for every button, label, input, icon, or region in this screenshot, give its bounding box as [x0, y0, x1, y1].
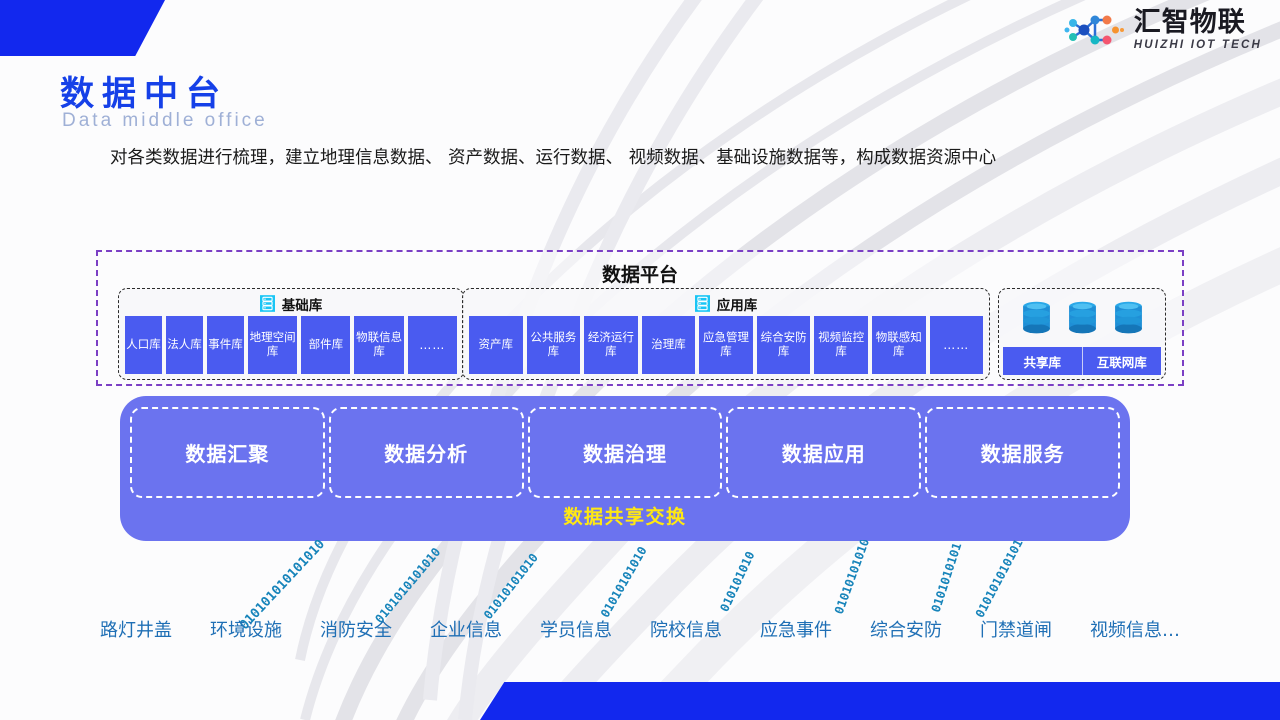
app-chip-economic-operation[interactable]: 经济运行库 — [584, 316, 638, 374]
binary-stream: 0101010101010 — [973, 540, 1029, 620]
capabilities-card-row: 数据汇聚 数据分析 数据治理 数据应用 数据服务 — [130, 407, 1120, 498]
base-library-box: 基础库 人口库 法人库 事件库 地理空间库 部件库 物联信息库 …… — [118, 288, 464, 380]
page-subtitle: Data middle office — [62, 110, 268, 132]
binary-stream: 010101010 — [717, 549, 757, 614]
tag-integrated-security[interactable]: 综合安防 — [870, 616, 942, 642]
binary-stream: 0101010101010 — [372, 545, 443, 626]
app-chip-public-service[interactable]: 公共服务库 — [527, 316, 581, 374]
base-chip-population[interactable]: 人口库 — [125, 316, 162, 374]
database-cylinder-row — [999, 289, 1165, 347]
database-cylinder-icon — [1113, 301, 1144, 335]
slide-root: 汇智物联 HUIZHI IOT TECH 数据中台 Data middle of… — [0, 0, 1280, 720]
bottom-tag-row: 路灯井盖 环境设施 消防安全 企业信息 学员信息 院校信息 应急事件 综合安防 … — [100, 616, 1180, 642]
base-chip-more[interactable]: …… — [408, 316, 457, 374]
app-chip-video-surveillance[interactable]: 视频监控库 — [814, 316, 868, 374]
corner-accent-bottom-right — [480, 682, 1280, 720]
page-title: 数据中台 — [60, 66, 228, 115]
binary-stream: 01010101010 — [598, 544, 650, 620]
data-platform-title: 数据平台 — [98, 260, 1182, 287]
database-stack-icon — [695, 295, 710, 312]
application-library-box: 应用库 资产库 公共服务库 经济运行库 治理库 应急管理库 综合安防库 视频监控… — [462, 288, 990, 380]
capability-card-data-application[interactable]: 数据应用 — [726, 407, 921, 498]
data-platform-panel: 数据平台 基础库 人口库 法人库 事件库 地理空间库 — [96, 250, 1184, 386]
base-chip-legal-person[interactable]: 法人库 — [166, 316, 203, 374]
database-stack-icon — [260, 295, 275, 312]
capability-card-data-governance[interactable]: 数据治理 — [528, 407, 723, 498]
tag-school-info[interactable]: 院校信息 — [650, 616, 722, 642]
tag-video-info[interactable]: 视频信息… — [1090, 616, 1180, 642]
binary-stream: 01010101010 — [832, 540, 872, 616]
app-chip-governance[interactable]: 治理库 — [642, 316, 696, 374]
database-cylinder-icon — [1021, 301, 1052, 335]
tag-environment-facility[interactable]: 环境设施 — [210, 616, 282, 642]
application-library-header: 应用库 — [463, 294, 989, 313]
capabilities-panel: 数据汇聚 数据分析 数据治理 数据应用 数据服务 数据共享交换 — [120, 396, 1130, 541]
capability-card-data-analysis[interactable]: 数据分析 — [329, 407, 524, 498]
shared-library-box: 共享库 互联网库 — [998, 288, 1166, 380]
base-chip-geospatial[interactable]: 地理空间库 — [248, 316, 297, 374]
base-library-chip-row: 人口库 法人库 事件库 地理空间库 部件库 物联信息库 …… — [125, 316, 457, 374]
tag-access-barrier[interactable]: 门禁道闸 — [980, 616, 1052, 642]
tab-shared-library[interactable]: 共享库 — [1003, 347, 1082, 375]
app-chip-asset[interactable]: 资产库 — [469, 316, 523, 374]
intro-paragraph: 对各类数据进行梳理，建立地理信息数据、 资产数据、运行数据、 视频数据、基础设施… — [110, 137, 1180, 180]
tag-emergency-event[interactable]: 应急事件 — [760, 616, 832, 642]
capabilities-footer-label: 数据共享交换 — [120, 502, 1130, 529]
tag-streetlight-manhole[interactable]: 路灯井盖 — [100, 616, 172, 642]
base-chip-component[interactable]: 部件库 — [301, 316, 350, 374]
app-chip-more[interactable]: …… — [930, 316, 984, 374]
logo-text-cn: 汇智物联 — [1134, 9, 1262, 36]
logo-text-en: HUIZHI IOT TECH — [1134, 40, 1262, 52]
capability-card-data-aggregation[interactable]: 数据汇聚 — [130, 407, 325, 498]
application-library-chip-row: 资产库 公共服务库 经济运行库 治理库 应急管理库 综合安防库 视频监控库 物联… — [469, 316, 983, 374]
binary-stream: 01010101010 — [481, 551, 541, 622]
tab-internet-library[interactable]: 互联网库 — [1082, 347, 1162, 375]
application-library-label: 应用库 — [717, 294, 758, 314]
base-library-header: 基础库 — [119, 294, 463, 313]
base-chip-event[interactable]: 事件库 — [207, 316, 244, 374]
shared-library-tabs: 共享库 互联网库 — [1003, 347, 1161, 375]
database-cylinder-icon — [1067, 301, 1098, 335]
base-chip-iot-info[interactable]: 物联信息库 — [354, 316, 403, 374]
tag-fire-safety[interactable]: 消防安全 — [320, 616, 392, 642]
tag-enterprise-info[interactable]: 企业信息 — [430, 616, 502, 642]
app-chip-emergency-management[interactable]: 应急管理库 — [699, 316, 753, 374]
brand-logo: 汇智物联 HUIZHI IOT TECH — [1064, 8, 1262, 52]
tag-student-info[interactable]: 学员信息 — [540, 616, 612, 642]
app-chip-iot-sensing[interactable]: 物联感知库 — [872, 316, 926, 374]
capability-card-data-service[interactable]: 数据服务 — [925, 407, 1120, 498]
base-library-label: 基础库 — [282, 294, 323, 314]
molecule-network-icon — [1064, 8, 1126, 52]
binary-stream: 0101010101 — [929, 541, 965, 614]
app-chip-integrated-security[interactable]: 综合安防库 — [757, 316, 811, 374]
